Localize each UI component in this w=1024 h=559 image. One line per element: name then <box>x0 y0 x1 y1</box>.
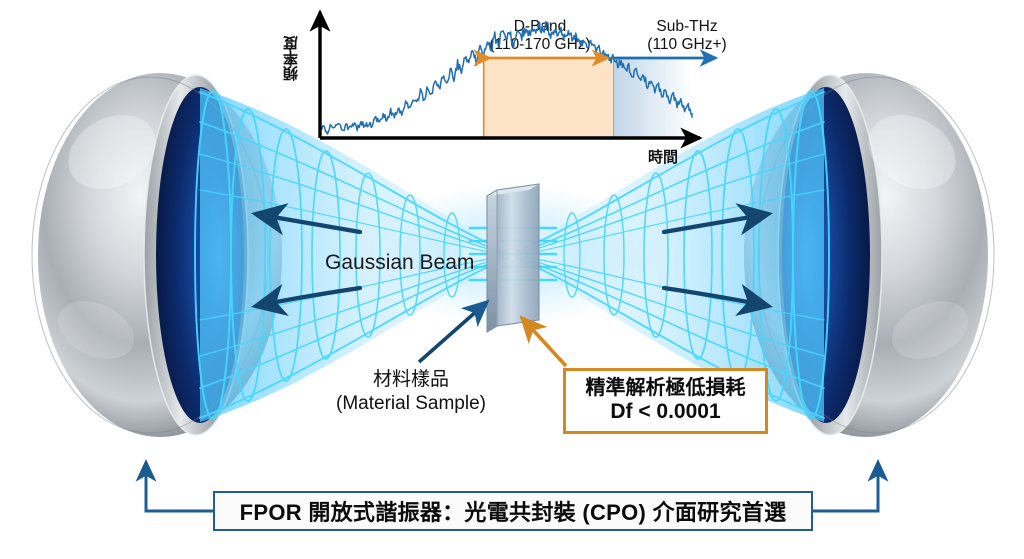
material-sample-plate <box>487 184 539 332</box>
spectrum-chart: 頻率度 時間 D-Band (110-170 GHz) Sub-THz (110… <box>282 0 722 172</box>
df-callout-leader <box>522 318 566 366</box>
material-sample-label-en: (Material Sample) <box>316 392 506 416</box>
df-callout-line2: Df < 0.0001 <box>610 400 720 424</box>
fpor-title-banner-text: FPOR 開放式諧振器：光電共封裝 (CPO) 介面研究首選 <box>240 495 787 527</box>
fpor-title-banner: FPOR 開放式諧振器：光電共封裝 (CPO) 介面研究首選 <box>213 491 813 531</box>
chart-plot-area <box>282 0 722 172</box>
d-band-region <box>484 58 614 138</box>
gaussian-beam-label: Gaussian Beam <box>325 250 474 276</box>
figure-root: 頻率度 時間 D-Band (110-170 GHz) Sub-THz (110… <box>0 0 1024 559</box>
df-callout-line1: 精準解析極低損耗 <box>586 377 746 400</box>
material-sample-label: 材料樣品 (Material Sample) <box>316 368 506 416</box>
material-sample-label-cn: 材料樣品 <box>316 368 506 392</box>
df-callout-box: 精準解析極低損耗 Df < 0.0001 <box>563 368 768 434</box>
